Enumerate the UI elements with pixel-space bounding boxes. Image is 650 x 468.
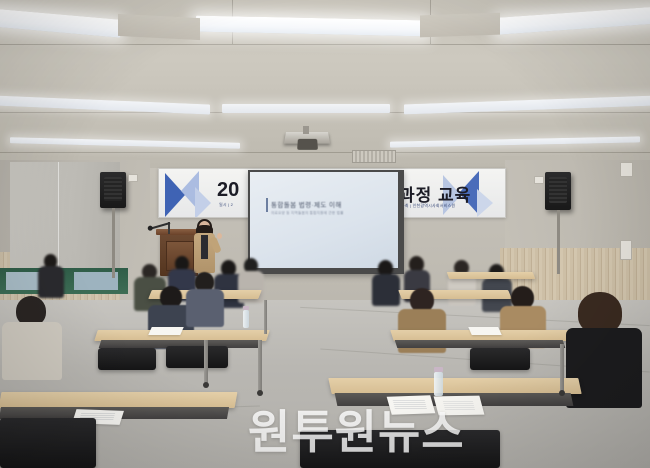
banner-subtitle-left: 일시 | 2 bbox=[219, 202, 233, 208]
water-bottle-front bbox=[434, 372, 443, 396]
banner-title-left: 20 bbox=[217, 179, 239, 202]
banner-triangle-6 bbox=[477, 189, 493, 217]
attendee-body bbox=[2, 322, 62, 380]
window-frame-left bbox=[0, 268, 128, 294]
attendee-body bbox=[566, 328, 642, 408]
ceiling-light-row-2b bbox=[222, 104, 390, 113]
speaker-cable-left bbox=[112, 208, 115, 278]
lecture-room-photograph: 20 위한 과정 교육 일시 | 2 주최 | 인천광역시사회서비스원 통합돌봄… bbox=[0, 0, 650, 468]
chair-mid-left[interactable] bbox=[98, 348, 156, 370]
desk-caster-1 bbox=[203, 382, 209, 388]
attendee-body bbox=[186, 289, 224, 327]
water-bottle-cap-front bbox=[434, 367, 443, 372]
attendee-body bbox=[372, 274, 400, 306]
presenter-inner-top bbox=[201, 235, 208, 259]
wall-sensor-right bbox=[534, 176, 544, 184]
banner-subtitle-right: 주최 | 인천광역시사회서비스원 bbox=[401, 203, 455, 209]
desk-leg-4 bbox=[264, 300, 267, 334]
desk-leg-2 bbox=[258, 340, 262, 392]
wall-speaker-left bbox=[100, 172, 126, 208]
wall-outlet-plate[interactable] bbox=[620, 240, 632, 260]
chair-front-left[interactable] bbox=[0, 418, 96, 468]
projection-screen bbox=[250, 172, 398, 268]
banner-triangle-3 bbox=[195, 187, 211, 218]
ceiling-vent bbox=[352, 150, 396, 163]
chair-mid-right[interactable] bbox=[470, 348, 530, 370]
desk-caster-3 bbox=[559, 390, 565, 396]
news-watermark: 원투원뉴스 bbox=[248, 396, 465, 462]
wall-switch-plate[interactable] bbox=[620, 162, 633, 177]
speaker-cable-right bbox=[557, 210, 560, 274]
chair-mid-center[interactable] bbox=[166, 346, 228, 368]
desk-front-left bbox=[0, 392, 237, 408]
handout-mid-left bbox=[148, 327, 184, 335]
desk-front-center bbox=[328, 378, 581, 394]
attendee-body bbox=[38, 266, 64, 298]
water-bottle-cap-mid bbox=[243, 306, 249, 310]
desk-far-right bbox=[447, 272, 536, 279]
slide-title: 통합돌봄 법령·제도 이해 bbox=[271, 199, 342, 209]
wall-speaker-right bbox=[545, 172, 571, 210]
desk-leg-1 bbox=[204, 340, 208, 384]
handout-mid-right bbox=[468, 327, 502, 335]
ceiling-panel-b bbox=[420, 13, 500, 38]
water-bottle-mid bbox=[243, 310, 249, 328]
slide-subtitle: 의료요양 등 지역돌봄의 통합지원에 관한 법률 bbox=[271, 211, 344, 216]
slide-accent-bar bbox=[266, 198, 268, 212]
projector-mount bbox=[303, 126, 309, 134]
presenter bbox=[192, 221, 218, 277]
ceiling-panel-a bbox=[118, 14, 200, 40]
desk-mid-right-apron bbox=[395, 340, 566, 348]
desk-leg-3 bbox=[560, 344, 564, 392]
wall-sensor-left bbox=[128, 174, 138, 182]
presenter-hand bbox=[217, 233, 222, 239]
